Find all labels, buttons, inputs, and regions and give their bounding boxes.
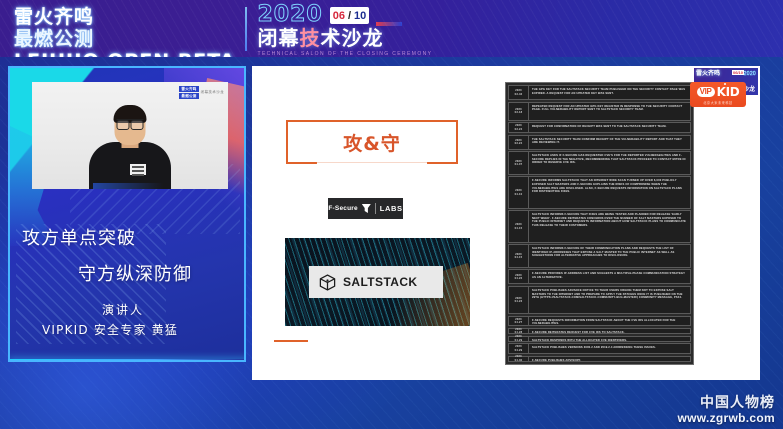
event-date-chip: 06 / 10 (330, 7, 370, 24)
timeline-row-text: F-SECURE REITERATES REQUEST FOR CVE IDS … (529, 329, 690, 333)
presenter-video[interactable]: 雷火齐鸣 最燃公测 闭幕技术沙龙 (32, 82, 228, 189)
talk-title-line-1: 攻方单点突破 (22, 224, 136, 250)
timeline-date-part: 03-24 (515, 142, 523, 145)
timeline-row-text: F-SECURE PROVIDES IP-ADDRESS LIST AND SU… (529, 270, 690, 283)
vipkid-logo: VIP KID 北京大米未来科技 (690, 82, 746, 107)
timeline-row: 202003-24REQUEST FOR CONFIRMATION OF REC… (508, 122, 691, 133)
timeline-row-date: 202003-24 (509, 123, 529, 132)
banner-title-part-b: 术沙龙 (320, 26, 383, 50)
timeline-date-part: 04-23 (515, 300, 523, 303)
logo-line-2: 最燃公测 (14, 29, 235, 49)
timeline-row-date: 202004-15 (509, 211, 529, 241)
saltstack-logo: SALTSTACK (309, 266, 443, 298)
fsecure-labs-label: LABS (380, 204, 403, 213)
timeline-row-date: 202004-15 (509, 245, 529, 267)
fsecure-logo-divider (375, 203, 376, 214)
video-watermark-chinese: 雷火齐鸣 最燃公测 (179, 86, 198, 99)
timeline-row-text: REQUEST FOR CONFIRMATION OF RECEIPT WAS … (529, 123, 690, 132)
timeline-banner-date-chip: 06/10 (732, 70, 744, 75)
fsecure-shield-icon (362, 204, 371, 213)
saltstack-label: SALTSTACK (343, 275, 417, 289)
watermark-title: 中国人物榜 (678, 395, 775, 411)
banner-logo-group: 雷火齐鸣 最燃公测 LEIHUO OPEN BETA 2020 06 / 10 … (14, 4, 432, 57)
timeline-row: 202003-18REPEATED REQUEST FOR AN UPDATED… (508, 102, 691, 121)
timeline-row-date: 202004-29 (509, 344, 529, 353)
saltstack-image: SALTSTACK (285, 238, 470, 326)
video-watermark-line-2: 最燃公测 (179, 93, 198, 99)
timeline-row: 202004-27F-SECURE REQUESTS INFORMATION F… (508, 316, 691, 327)
vipkid-kid-label: KID (717, 85, 740, 99)
banner-title: 闭幕技术沙龙 (257, 27, 432, 49)
event-year: 2020 (257, 4, 322, 26)
video-watermark-tail: 闭幕技术沙龙 (201, 90, 224, 95)
timeline-row-text: F-SECURE INFORMS SALTSTACK THAT AN INTER… (529, 177, 690, 207)
timeline-date-part: 04-28 (515, 331, 523, 334)
timeline-row-date: 202003-18 (509, 103, 529, 120)
timeline-row-date: 202004-29 (509, 337, 529, 341)
saltstack-cube-icon (318, 273, 337, 292)
timeline-row-text: SALTSTACK PUBLISHES ADVANCE NOTICE TO TH… (529, 287, 690, 313)
timeline-date-part: 04-15 (515, 256, 523, 259)
vipkid-vip-label: VIP (697, 87, 715, 97)
timeline-row: 202004-15SALTSTACK INFORMS F-SECURE OF T… (508, 244, 691, 268)
timeline-date-part: 04-30 (515, 359, 523, 362)
vipkid-sublabel: 北京大米未来科技 (703, 100, 733, 105)
logo-divider (245, 7, 247, 51)
timeline-row-text: F-SECURE PUBLISHES ADVISORY. (529, 357, 690, 361)
timeline-row-text: SALTSTACK RESPONDS WITH THE ALLOCATED CV… (529, 337, 690, 341)
event-date-slash: / (348, 7, 351, 24)
timeline-row-text: SALTSTACK INFORMS F-SECURE THAT FIXES AR… (529, 211, 690, 241)
timeline-row-text: SALTSTACK ASKS IF F-SECURE HAS REQUESTED… (529, 152, 690, 174)
slide-title: 攻&守 (286, 120, 458, 164)
timeline-row: 202004-30F-SECURE PUBLISHES ADVISORY. (508, 356, 691, 362)
timeline-row-date: 202004-10 (509, 177, 529, 207)
watermark-url: www.zgrwb.com (678, 411, 775, 425)
timeline-row: 202004-23SALTSTACK PUBLISHES ADVANCE NOT… (508, 286, 691, 314)
logo-subtitle: LEIHUO OPEN BETA (14, 51, 235, 57)
event-banner: 雷火齐鸣 最燃公测 LEIHUO OPEN BETA 2020 06 / 10 … (0, 0, 783, 57)
vipkid-logo-main: VIP KID (697, 85, 740, 99)
screenshot-stage: 雷火齐鸣 最燃公测 LEIHUO OPEN BETA 2020 06 / 10 … (0, 0, 783, 429)
timeline-row: 202003-42THE GPG KEY FOR THE SALTSTACK S… (508, 85, 691, 100)
timeline-row-date: 202004-22 (509, 270, 529, 283)
timeline-row-date: 202003-42 (509, 86, 529, 99)
timeline-row-text: SALTSTACK PUBLISHES VERSIONS 3000.2 AND … (529, 344, 690, 353)
talk-title-line-2: 守方纵深防御 (78, 260, 192, 286)
timeline-date-part: 04-10 (515, 193, 523, 196)
timeline-row: 202004-10F-SECURE INFORMS SALTSTACK THAT… (508, 176, 691, 208)
timeline-row-date: 202003-24 (509, 136, 529, 149)
timeline-row: 202003-24THE SALTSTACK SECURITY TEAM CON… (508, 135, 691, 150)
disclosure-timeline-table: 202003-42THE GPG KEY FOR THE SALTSTACK S… (505, 82, 694, 365)
banner-title-part-a: 闭幕 (257, 26, 299, 50)
date-accent-bar (376, 22, 402, 26)
timeline-row-date: 202004-28 (509, 329, 529, 333)
timeline-row: 202004-15SALTSTACK INFORMS F-SECURE THAT… (508, 210, 691, 242)
timeline-banner-chinese: 雷火齐鸣 (696, 70, 720, 77)
banner-title-subtitle: TECHNICAL SALON OF THE CLOSING CEREMONY (257, 51, 432, 57)
timeline-date-part: 04-29 (515, 349, 523, 352)
timeline-date-part: 04-27 (515, 321, 523, 324)
timeline-row-text: THE SALTSTACK SECURITY TEAM CONFIRM RECE… (529, 136, 690, 149)
timeline-row-text: F-SECURE REQUESTS INFORMATION FROM SALTS… (529, 317, 690, 326)
timeline-row: 202004-22F-SECURE PROVIDES IP-ADDRESS LI… (508, 269, 691, 284)
fsecure-label: F-Secure (328, 205, 357, 212)
timeline-date-part: 04-15 (515, 227, 523, 230)
timeline-row-text: THE GPG KEY FOR THE SALTSTACK SECURITY T… (529, 86, 690, 99)
timeline-date-part: 04-22 (515, 277, 523, 280)
timeline-date-part: 03-24 (515, 128, 523, 131)
glasses-icon (117, 119, 144, 127)
timeline-date-part: 04-07 (515, 163, 523, 166)
timeline-date-part: 03-18 (515, 111, 523, 114)
timeline-row: 202004-28F-SECURE REITERATES REQUEST FOR… (508, 328, 691, 334)
presenter-shirt-badge (130, 164, 146, 175)
timeline-row-text: SALTSTACK INFORMS F-SECURE OF THEIR COMM… (529, 245, 690, 267)
timeline-row-text: REPEATED REQUEST FOR AN UPDATED GPG KEY … (529, 103, 690, 120)
fsecure-labs-logo: F-Secure LABS (328, 198, 403, 219)
presenter-panel: 雷火齐鸣 最燃公测 闭幕技术沙龙 攻方单点突破 守方纵深防御 演讲人 VIPKI… (8, 66, 246, 362)
speaker-role-label: 演讲人 (102, 301, 144, 318)
timeline-row-date: 202004-27 (509, 317, 529, 326)
timeline-row: 202004-29SALTSTACK PUBLISHES VERSIONS 30… (508, 343, 691, 354)
event-logo-chinese: 雷火齐鸣 最燃公测 LEIHUO OPEN BETA (14, 4, 235, 57)
video-watermark-line-1: 雷火齐鸣 (179, 86, 198, 92)
site-watermark: 中国人物榜 www.zgrwb.com (678, 395, 775, 425)
banner-title-group: 2020 06 / 10 闭幕技术沙龙 TECHNICAL SALON OF T… (257, 4, 432, 57)
timeline-banner-year: 2020 (744, 71, 756, 77)
banner-title-highlight: 技 (299, 26, 320, 50)
logo-line-1: 雷火齐鸣 (14, 7, 235, 27)
timeline-row: 202004-07SALTSTACK ASKS IF F-SECURE HAS … (508, 151, 691, 175)
timeline-row-date: 202004-07 (509, 152, 529, 174)
timeline-row-date: 202004-23 (509, 287, 529, 313)
banner-year-row: 2020 06 / 10 (257, 4, 432, 26)
video-watermark-logo: 雷火齐鸣 最燃公测 闭幕技术沙龙 (179, 86, 224, 99)
event-date-month: 06 (330, 7, 348, 24)
timeline-row-date: 202004-30 (509, 357, 529, 361)
slide-accent-rule (274, 340, 308, 342)
timeline-date-part: 04-29 (515, 339, 523, 342)
timeline-date-part: 03-42 (515, 93, 523, 96)
event-date-day: 10 (351, 7, 369, 24)
speaker-name: VIPKID 安全专家 黄猛 (42, 321, 178, 338)
presenter-figure (87, 117, 173, 189)
presenter-panel-underline (8, 359, 246, 362)
timeline-row: 202004-29SALTSTACK RESPONDS WITH THE ALL… (508, 336, 691, 342)
presenter-shoulder-highlight (93, 183, 163, 189)
presentation-slide: 攻&守 F-Secure LABS SALTSTACK (252, 66, 760, 380)
